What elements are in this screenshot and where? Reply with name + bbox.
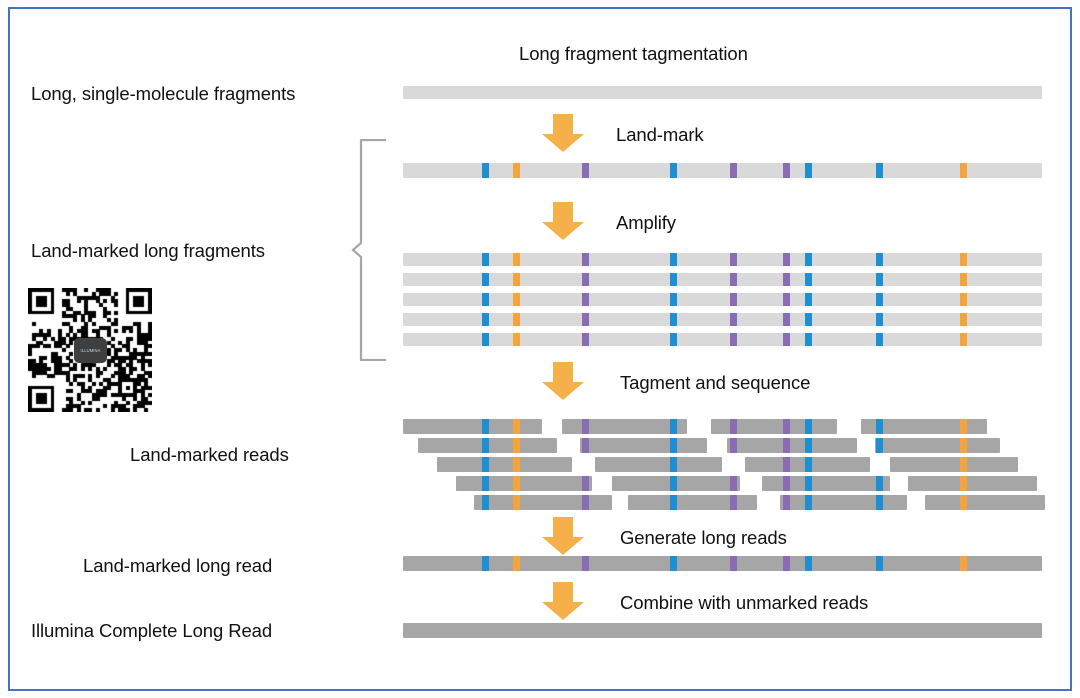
landmark-purple [582, 476, 589, 491]
landmark-orange [960, 556, 967, 571]
landmark-orange [960, 273, 967, 286]
landmark-orange [513, 419, 520, 434]
landmark-purple [730, 313, 737, 326]
landmark-blue [670, 419, 677, 434]
landmark-purple [582, 293, 589, 306]
landmark-blue [670, 273, 677, 286]
short-read-segment [456, 476, 592, 491]
landmark-purple [730, 476, 737, 491]
landmark-blue [876, 419, 883, 434]
landmark-blue [670, 438, 677, 453]
landmark-orange [513, 293, 520, 306]
landmark-orange [513, 253, 520, 266]
short-read-segment [780, 495, 907, 510]
landmark-blue [876, 253, 883, 266]
landmark-blue [670, 163, 677, 178]
landmark-blue [670, 253, 677, 266]
landmark-blue [670, 476, 677, 491]
landmark-purple [582, 495, 589, 510]
landmark-blue [482, 419, 489, 434]
step-label-tagment-and-sequence: Tagment and sequence [620, 372, 810, 394]
landmark-purple [730, 273, 737, 286]
track-amplified-copy-1 [403, 253, 1042, 266]
landmark-purple [783, 556, 790, 571]
landmark-blue [482, 556, 489, 571]
landmark-orange [960, 476, 967, 491]
landmark-blue [670, 556, 677, 571]
track-amplified-copy-5 [403, 333, 1042, 346]
landmark-orange [513, 333, 520, 346]
landmark-blue [482, 273, 489, 286]
short-read-segment [418, 438, 557, 453]
short-read-segment [908, 476, 1037, 491]
landmark-blue [482, 293, 489, 306]
landmark-orange [960, 495, 967, 510]
landmark-purple [783, 438, 790, 453]
landmark-orange [960, 163, 967, 178]
landmark-blue [482, 476, 489, 491]
landmark-orange [960, 253, 967, 266]
short-read-segment [403, 419, 542, 434]
landmark-blue [876, 273, 883, 286]
track-amplified-copy-4 [403, 313, 1042, 326]
landmark-blue [876, 556, 883, 571]
short-read-segment [762, 476, 890, 491]
short-read-segment [437, 457, 572, 472]
short-read-segment [711, 419, 837, 434]
landmark-purple [582, 556, 589, 571]
landmark-blue [876, 476, 883, 491]
step-label-combine-with-unmarked-reads: Combine with unmarked reads [620, 592, 868, 614]
landmark-blue [670, 457, 677, 472]
land-marked-fragments-brace [351, 139, 387, 361]
step-label-generate-long-reads: Generate long reads [620, 527, 787, 549]
landmark-blue [482, 163, 489, 178]
row-label-land-marked-reads: Land-marked reads [130, 444, 289, 466]
landmark-blue [876, 293, 883, 306]
landmark-blue [482, 438, 489, 453]
landmark-purple [783, 313, 790, 326]
landmark-blue [670, 293, 677, 306]
landmark-orange [960, 419, 967, 434]
short-read-segment [875, 438, 1000, 453]
landmark-blue [805, 293, 812, 306]
landmark-orange [960, 457, 967, 472]
landmark-blue [805, 163, 812, 178]
row-label-illumina-complete-long-read: Illumina Complete Long Read [31, 620, 272, 642]
landmark-purple [730, 419, 737, 434]
landmark-purple [582, 253, 589, 266]
short-read-segment [745, 457, 870, 472]
landmark-blue [876, 163, 883, 178]
landmark-blue [482, 457, 489, 472]
landmark-purple [730, 253, 737, 266]
landmark-blue [670, 495, 677, 510]
landmark-blue [482, 253, 489, 266]
short-read-segment [890, 457, 1018, 472]
down-arrow-icon [540, 112, 586, 154]
landmark-blue [805, 495, 812, 510]
qr-code-logo-label: ILLUMINA [80, 348, 100, 353]
row-label-land-marked-long-fragments: Land-marked long fragments [31, 240, 265, 262]
landmark-purple [582, 273, 589, 286]
track-long-read [403, 556, 1042, 571]
landmark-purple [730, 293, 737, 306]
landmark-orange [513, 438, 520, 453]
track-complete-long-read [403, 623, 1042, 638]
landmark-purple [730, 333, 737, 346]
landmark-purple [582, 419, 589, 434]
landmark-purple [783, 253, 790, 266]
short-read-segment [562, 419, 687, 434]
down-arrow-icon [540, 515, 586, 557]
landmark-purple [783, 293, 790, 306]
short-read-segment [925, 495, 1045, 510]
landmark-purple [783, 163, 790, 178]
short-read-segment [628, 495, 757, 510]
landmark-purple [582, 163, 589, 178]
landmark-blue [482, 333, 489, 346]
landmark-blue [482, 495, 489, 510]
landmark-blue [805, 556, 812, 571]
landmark-purple [582, 438, 589, 453]
landmark-blue [805, 273, 812, 286]
landmark-blue [805, 253, 812, 266]
track-land-marked-fragment [403, 163, 1042, 178]
short-read-segment [612, 476, 740, 491]
landmark-purple [783, 273, 790, 286]
landmark-blue [805, 438, 812, 453]
landmark-purple [730, 495, 737, 510]
track-amplified-copy-2 [403, 273, 1042, 286]
down-arrow-icon [540, 200, 586, 242]
landmark-orange [513, 495, 520, 510]
landmark-orange [513, 476, 520, 491]
landmark-blue [876, 438, 883, 453]
landmark-blue [876, 333, 883, 346]
row-label-long-single-molecule-fragments: Long, single-molecule fragments [31, 83, 295, 105]
landmark-blue [876, 313, 883, 326]
landmark-purple [783, 333, 790, 346]
down-arrow-icon [540, 580, 586, 622]
step-label-amplify: Amplify [616, 212, 676, 234]
landmark-purple [730, 438, 737, 453]
landmark-blue [670, 313, 677, 326]
landmark-orange [960, 293, 967, 306]
landmark-blue [805, 419, 812, 434]
qr-code-logo: ILLUMINA [74, 338, 107, 363]
down-arrow-icon [540, 360, 586, 402]
row-label-land-marked-long-read: Land-marked long read [83, 555, 272, 577]
track-long-fragment [403, 86, 1042, 99]
figure-root: Long fragment tagmentation Long, single-… [0, 0, 1080, 698]
landmark-orange [513, 163, 520, 178]
landmark-orange [960, 438, 967, 453]
landmark-blue [670, 333, 677, 346]
landmark-orange [513, 457, 520, 472]
qr-code[interactable]: ILLUMINA [28, 288, 152, 412]
landmark-purple [730, 163, 737, 178]
landmark-blue [805, 313, 812, 326]
short-read-segment [580, 438, 707, 453]
short-read-segment [474, 495, 612, 510]
landmark-purple [783, 476, 790, 491]
landmark-orange [513, 313, 520, 326]
short-read-segment [861, 419, 987, 434]
landmark-blue [482, 313, 489, 326]
landmark-blue [805, 476, 812, 491]
landmark-orange [513, 273, 520, 286]
short-read-segment [595, 457, 722, 472]
landmark-orange [513, 556, 520, 571]
landmark-blue [876, 495, 883, 510]
landmark-blue [805, 457, 812, 472]
landmark-orange [960, 313, 967, 326]
track-amplified-copy-3 [403, 293, 1042, 306]
page-title: Long fragment tagmentation [519, 43, 748, 65]
landmark-purple [582, 333, 589, 346]
landmark-purple [783, 419, 790, 434]
landmark-orange [960, 333, 967, 346]
landmark-purple [783, 495, 790, 510]
landmark-purple [582, 313, 589, 326]
landmark-blue [805, 333, 812, 346]
step-label-land-mark: Land-mark [616, 124, 704, 146]
landmark-purple [730, 556, 737, 571]
short-read-segment [727, 438, 857, 453]
landmark-purple [783, 457, 790, 472]
